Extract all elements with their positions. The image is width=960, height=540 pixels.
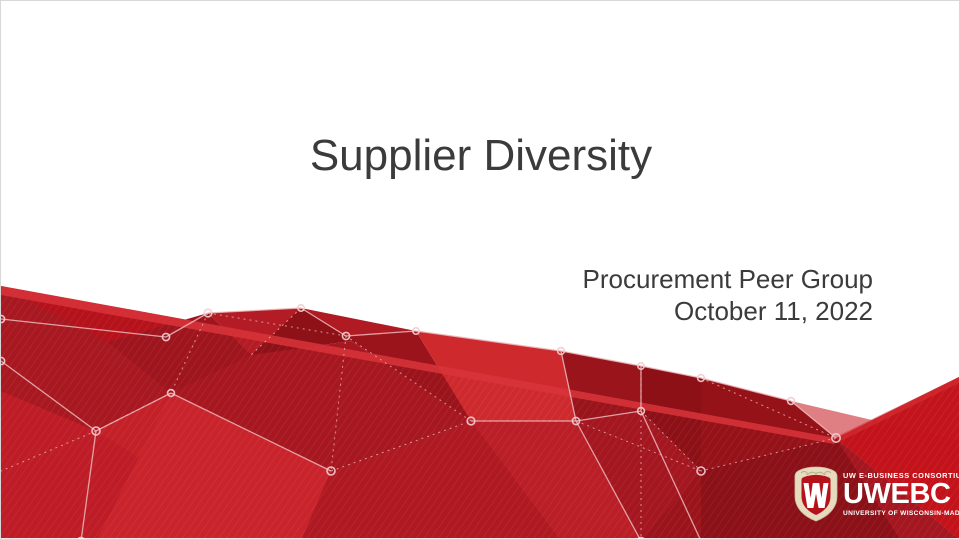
uw-crest-icon [793,466,839,522]
slide-title: Supplier Diversity [73,129,889,183]
presentation-slide: Supplier Diversity Procurement Peer Grou… [0,0,960,540]
uwebc-tagline-bottom: UNIVERSITY OF WISCONSIN-MADISON [843,509,960,518]
uwebc-logo: UW E-BUSINESS CONSORTIUM UWEBC UNIVERSIT… [793,463,955,525]
network-nodes [1,305,840,540]
uwebc-name: UWEBC [843,480,960,509]
uwebc-wordmark: UW E-BUSINESS CONSORTIUM UWEBC UNIVERSIT… [843,471,960,518]
subtitle-line-group: Procurement Peer Group [331,263,873,295]
subtitle-placeholder[interactable]: Procurement Peer Group October 11, 2022 [331,263,873,327]
network-dotted-links [1,308,836,540]
title-placeholder[interactable]: Supplier Diversity [73,129,889,183]
network-solid-links [1,308,836,540]
subtitle-line-date: October 11, 2022 [331,295,873,327]
